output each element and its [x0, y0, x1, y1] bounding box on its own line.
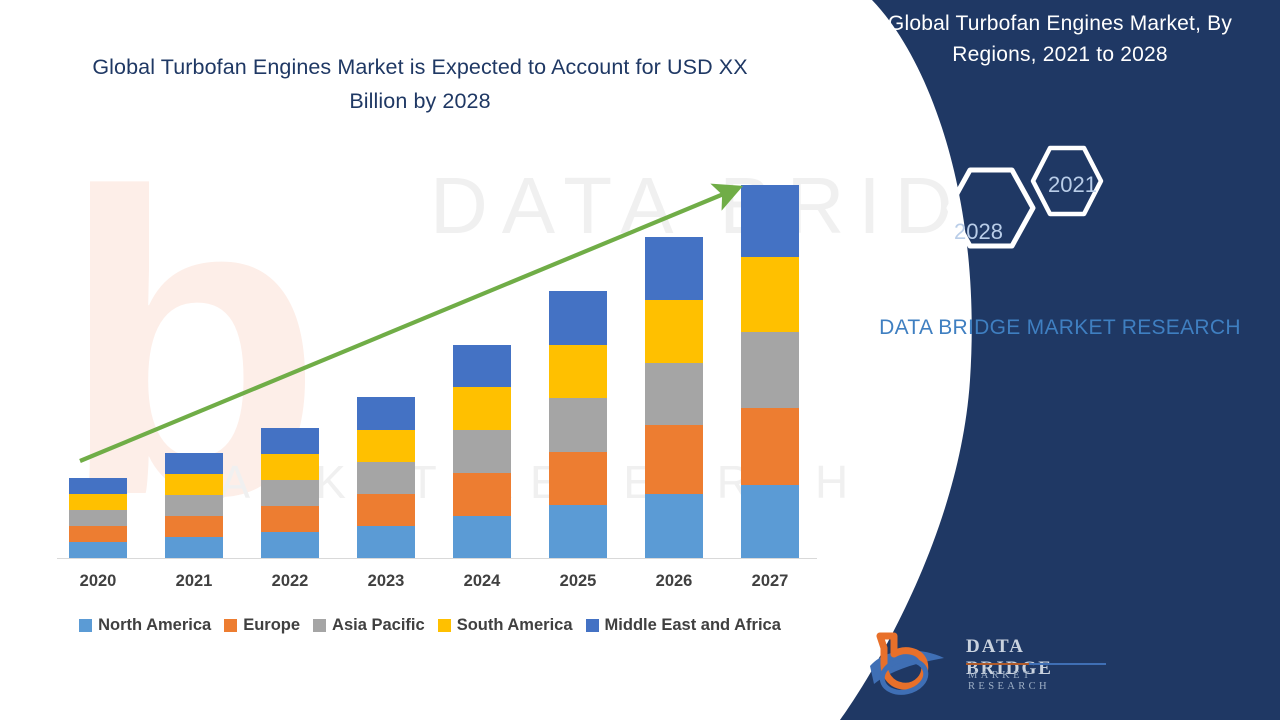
hexagon-group: 2028 2021: [940, 140, 1150, 270]
bar-segment: [741, 408, 799, 485]
bar-2024: [453, 345, 511, 558]
bar-segment: [357, 462, 415, 494]
plot-area: [0, 0, 860, 600]
bar-segment: [261, 428, 319, 454]
x-label-2021: 2021: [154, 572, 234, 591]
bar-segment: [741, 257, 799, 332]
x-label-2027: 2027: [730, 572, 810, 591]
legend-swatch-icon: [586, 619, 599, 632]
bar-segment: [645, 494, 703, 558]
bar-segment: [69, 526, 127, 542]
legend-swatch-icon: [224, 619, 237, 632]
legend-label: North America: [98, 616, 211, 635]
bar-segment: [357, 526, 415, 558]
bar-segment: [261, 454, 319, 480]
chart-legend: North AmericaEuropeAsia PacificSouth Ame…: [0, 616, 860, 635]
bar-segment: [165, 516, 223, 537]
bar-segment: [645, 363, 703, 425]
bar-segment: [165, 537, 223, 558]
bar-segment: [645, 425, 703, 494]
bar-2027: [741, 185, 799, 558]
bar-segment: [69, 478, 127, 494]
bar-segment: [165, 474, 223, 495]
logo-divider: [966, 663, 1106, 665]
legend-swatch-icon: [313, 619, 326, 632]
legend-label: Asia Pacific: [332, 616, 425, 635]
brand-name-text: DATA BRIDGE MARKET RESEARCH: [870, 312, 1250, 344]
legend-swatch-icon: [438, 619, 451, 632]
x-label-2020: 2020: [58, 572, 138, 591]
bar-2021: [165, 453, 223, 558]
x-label-2022: 2022: [250, 572, 330, 591]
bar-segment: [453, 345, 511, 387]
bar-segment: [549, 345, 607, 398]
legend-swatch-icon: [79, 619, 92, 632]
legend-item[interactable]: Europe: [224, 616, 300, 635]
bar-segment: [453, 473, 511, 516]
bar-segment: [741, 332, 799, 408]
bar-segment: [69, 542, 127, 558]
bar-segment: [69, 494, 127, 510]
hexagon-label-2028: 2028: [954, 219, 1003, 245]
legend-item[interactable]: South America: [438, 616, 573, 635]
bar-2025: [549, 291, 607, 558]
x-label-2023: 2023: [346, 572, 426, 591]
bar-2026: [645, 237, 703, 558]
bar-segment: [741, 485, 799, 558]
bar-segment: [357, 430, 415, 462]
side-panel: Global Turbofan Engines Market, By Regio…: [840, 0, 1280, 720]
bar-segment: [357, 397, 415, 430]
bar-2022: [261, 428, 319, 558]
side-panel-title: Global Turbofan Engines Market, By Regio…: [870, 8, 1250, 70]
legend-label: Middle East and Africa: [605, 616, 781, 635]
growth-trend-arrow: [0, 0, 860, 600]
hexagon-label-2021: 2021: [1048, 172, 1097, 198]
bar-segment: [645, 237, 703, 300]
x-axis-line: [57, 558, 817, 559]
legend-item[interactable]: Asia Pacific: [313, 616, 425, 635]
side-panel-background: [840, 0, 1280, 720]
bar-2023: [357, 397, 415, 558]
chart-panel: b DATA BRIDGE MARKET RESEARCH Global Tur…: [0, 0, 860, 720]
bar-segment: [549, 291, 607, 345]
x-label-2025: 2025: [538, 572, 618, 591]
bar-segment: [69, 510, 127, 526]
bar-segment: [165, 495, 223, 516]
logo-text-sub: MARKET RESEARCH: [968, 670, 1090, 692]
x-label-2024: 2024: [442, 572, 522, 591]
bar-segment: [357, 494, 415, 526]
bar-segment: [261, 532, 319, 558]
bar-segment: [549, 452, 607, 505]
bar-segment: [453, 516, 511, 558]
bar-segment: [645, 300, 703, 363]
legend-label: South America: [457, 616, 573, 635]
bar-segment: [741, 185, 799, 257]
legend-label: Europe: [243, 616, 300, 635]
hexagon-shapes: [940, 140, 1150, 270]
bar-segment: [453, 430, 511, 473]
x-label-2026: 2026: [634, 572, 714, 591]
legend-item[interactable]: Middle East and Africa: [586, 616, 781, 635]
legend-item[interactable]: North America: [79, 616, 211, 635]
bar-segment: [549, 505, 607, 558]
bar-2020: [69, 478, 127, 558]
bar-segment: [453, 387, 511, 430]
bar-segment: [261, 506, 319, 532]
bar-segment: [261, 480, 319, 506]
logo-mark-icon: [860, 628, 960, 700]
slide-canvas: b DATA BRIDGE MARKET RESEARCH Global Tur…: [0, 0, 1280, 720]
bar-segment: [165, 453, 223, 474]
x-axis-labels: 20202021202220232024202520262027: [0, 572, 860, 598]
bar-segment: [549, 398, 607, 452]
company-logo: DATA BRIDGE MARKET RESEARCH: [860, 628, 1090, 702]
